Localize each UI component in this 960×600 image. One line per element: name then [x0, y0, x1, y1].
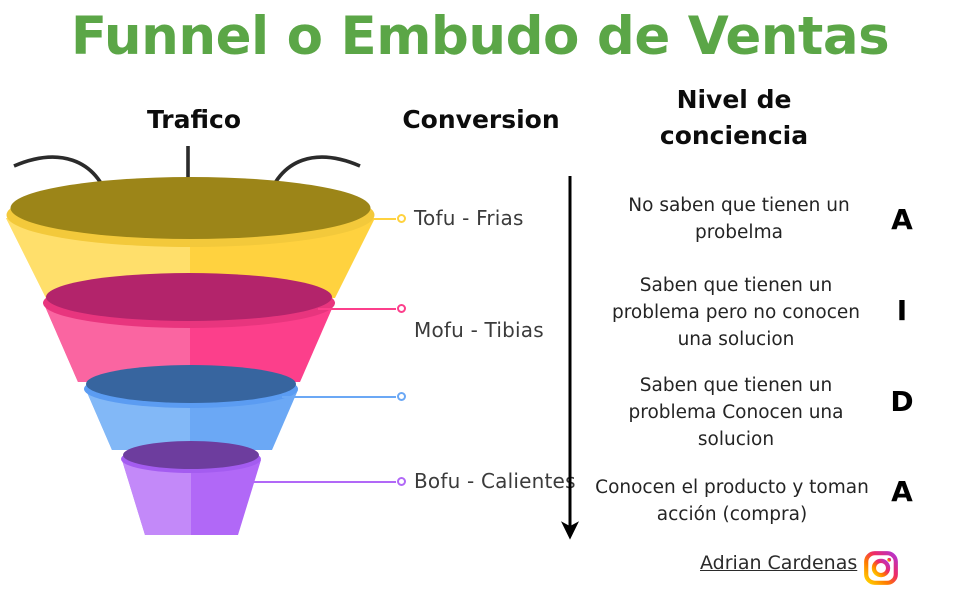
awareness-text-3: Saben que tienen un problema Conocen una…	[588, 372, 884, 453]
mofu-top-surface	[46, 273, 332, 321]
awareness-letter-4: A	[882, 475, 922, 508]
awareness-text-3-line-1: Saben que tienen un	[588, 372, 884, 399]
mofu-connector-line	[318, 308, 396, 310]
stage-label-tofu: Tofu - Frias	[414, 206, 524, 230]
awareness-text-4: Conocen el producto y toman acción (comp…	[582, 474, 882, 528]
blue-top-surface	[86, 365, 296, 403]
stage-label-mofu: Mofu - Tibias	[414, 318, 544, 342]
column-heading-awareness: Nivel de conciencia	[610, 82, 858, 154]
page-title: Funnel o Embudo de Ventas	[0, 4, 960, 70]
awareness-heading-line1: Nivel de	[610, 82, 858, 118]
author-credit[interactable]: Adrian Cardenas	[700, 552, 857, 574]
awareness-text-4-line-2: acción (compra)	[582, 501, 882, 528]
awareness-text-2-line-2: problema pero no conocen	[588, 299, 884, 326]
mofu-connector-dot	[397, 304, 406, 313]
tofu-connector-line	[374, 218, 396, 220]
bofu-connector-dot	[397, 477, 406, 486]
awareness-text-2: Saben que tienen un problema pero no con…	[588, 272, 884, 353]
stage-label-bofu: Bofu - Calientes	[414, 469, 576, 493]
awareness-heading-line2: conciencia	[610, 118, 858, 154]
column-heading-traffic: Trafico	[96, 102, 292, 138]
awareness-letter-1: A	[882, 203, 922, 236]
bofu-top-surface	[123, 441, 259, 469]
awareness-letter-2: I	[882, 294, 922, 327]
awareness-text-1: No saben que tienen un probelma	[594, 192, 884, 246]
bofu-connector-line	[250, 481, 396, 483]
funnel-infographic: Funnel o Embudo de Ventas Trafico Conver…	[0, 0, 960, 600]
awareness-text-1-line-1: No saben que tienen un	[594, 192, 884, 219]
tofu-connector-dot	[397, 214, 406, 223]
blue-connector-line	[282, 396, 396, 398]
instagram-icon[interactable]	[864, 551, 898, 585]
awareness-letter-3: D	[882, 385, 922, 418]
column-heading-conversion: Conversion	[374, 102, 588, 138]
tofu-top-surface	[11, 177, 371, 239]
awareness-text-2-line-3: una solucion	[588, 326, 884, 353]
awareness-text-2-line-1: Saben que tienen un	[588, 272, 884, 299]
awareness-text-3-line-3: solucion	[588, 426, 884, 453]
blue-connector-dot	[397, 392, 406, 401]
funnel-stage-bofu	[121, 441, 261, 535]
awareness-text-3-line-2: problema Conocen una	[588, 399, 884, 426]
awareness-text-1-line-2: probelma	[594, 219, 884, 246]
funnel-stage-blue	[84, 365, 298, 450]
funnel-graphic	[0, 160, 400, 560]
awareness-text-4-line-1: Conocen el producto y toman	[582, 474, 882, 501]
